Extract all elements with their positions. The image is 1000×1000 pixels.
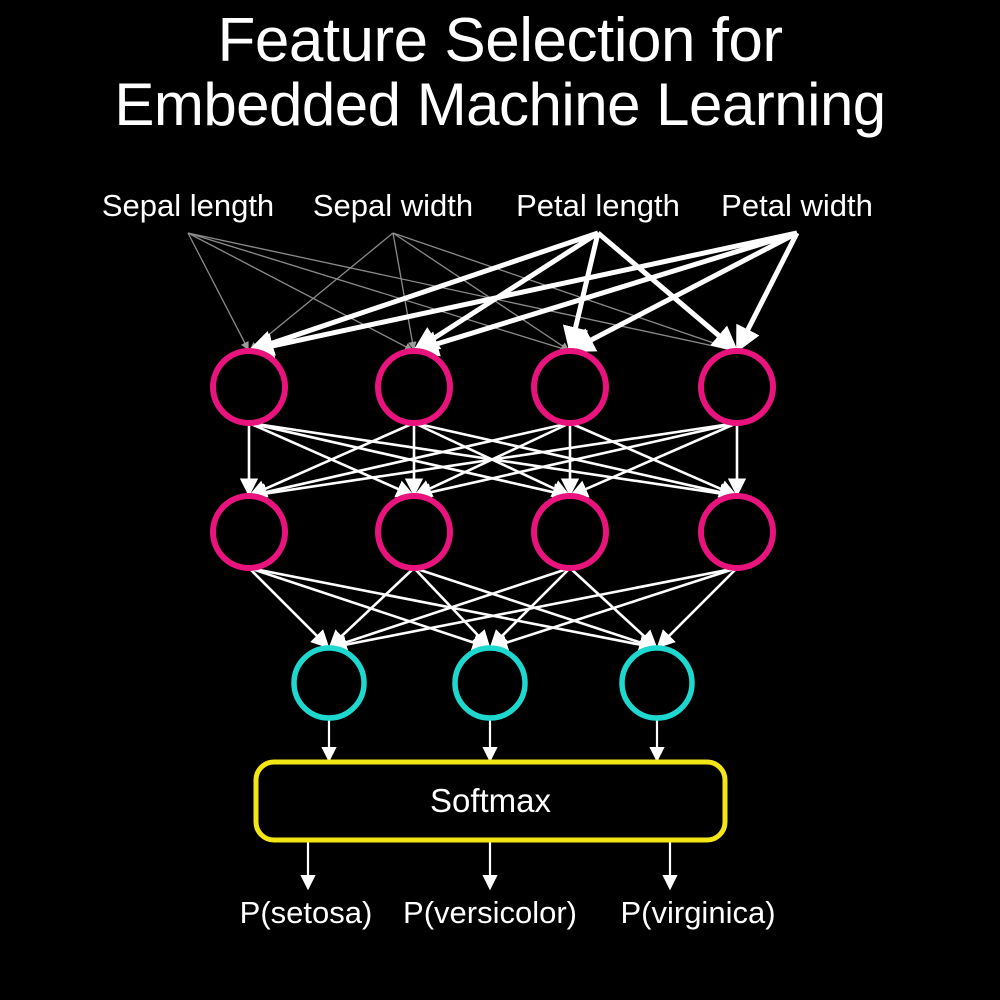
hidden1-node-0 [213,351,285,423]
hidden2-node-2 [534,496,606,568]
diagram-canvas: Feature Selection for Embedded Machine L… [0,0,1000,1000]
network-graph [0,0,1000,1000]
edges-hidden1-to-hidden2 [249,423,737,496]
edge-input-1-hidden1-1 [393,233,414,349]
hidden2-node-3 [701,496,773,568]
nodes-output-layer [294,648,692,718]
hidden1-node-1 [378,351,450,423]
output-node-2 [622,648,692,718]
softmax-box [256,762,725,840]
hidden2-node-0 [213,496,285,568]
hidden1-node-3 [701,351,773,423]
edges-softmax-to-probabilities [308,840,670,888]
output-label-setosa: P(setosa) [240,895,373,931]
edges-output-to-softmax [329,718,657,760]
hidden2-node-1 [378,496,450,568]
output-node-0 [294,648,364,718]
output-label-virginica: P(virginica) [620,895,775,931]
nodes-hidden-layer-2 [213,496,773,568]
edges-input-to-hidden1 [188,233,797,351]
output-node-1 [455,648,525,718]
edges-hidden2-to-output [249,568,737,648]
edge-input-2-hidden1-0 [251,233,598,350]
softmax-box-rect [256,762,725,840]
nodes-hidden-layer-1 [213,351,773,423]
output-label-versicolor: P(versicolor) [403,895,577,931]
edge-input-0-hidden1-0 [188,233,248,349]
hidden1-node-2 [534,351,606,423]
